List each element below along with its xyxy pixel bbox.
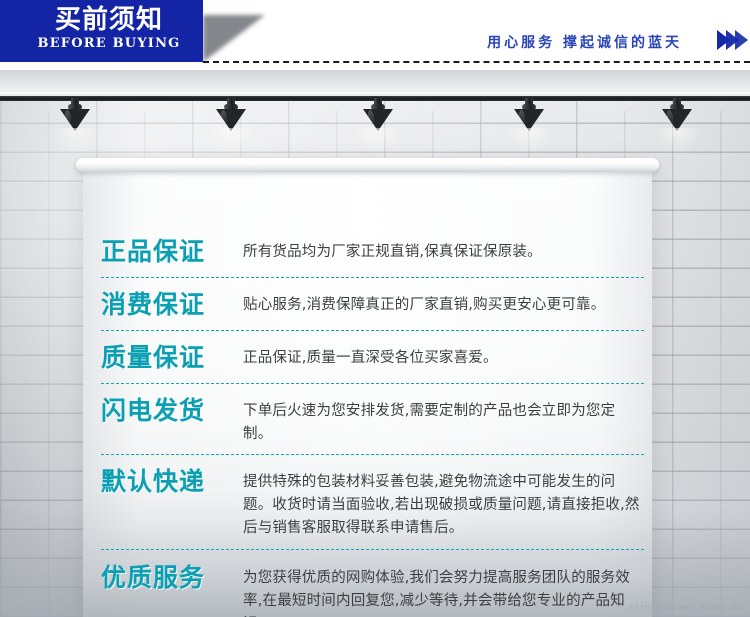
- row-divider: [101, 549, 644, 550]
- info-row-heading: 优质服务: [101, 563, 243, 593]
- info-row: 质量保证 正品保证,质量一直深受各位买家喜爱。: [83, 343, 652, 373]
- info-row-body: 提供特殊的包装材料妥善包装,避免物流途中可能发生的问题。收货时请当面验收,若出现…: [243, 467, 642, 540]
- spotlight-lamp-icon: [514, 98, 544, 132]
- ceiling-strip: [0, 70, 750, 96]
- info-row-body: 下单后火速为您安排发货,需要定制的产品也会立即为您定制。: [243, 396, 642, 446]
- info-row: 默认快递 提供特殊的包装材料妥善包装,避免物流途中可能发生的问题。收货时请当面验…: [83, 467, 652, 540]
- spotlight-lamp-icon: [60, 98, 90, 132]
- info-row-body: 贴心服务,消费保障真正的厂家直销,购买更安心更可靠。: [243, 290, 642, 317]
- spotlight-lamp-icon: [216, 98, 246, 132]
- info-row-body: 正品保证,质量一直深受各位买家喜爱。: [243, 343, 642, 370]
- row-divider: [101, 454, 644, 455]
- info-row: 闪电发货 下单后火速为您安排发货,需要定制的产品也会立即为您定制。: [83, 396, 652, 446]
- page-header: 买前须知 BEFORE BUYING 用心服务 撑起诚信的蓝天: [0, 0, 750, 70]
- info-row-body: 所有货品均为厂家正规直销,保真保证保原装。: [243, 237, 642, 264]
- header-tagline: 用心服务 撑起诚信的蓝天: [487, 32, 682, 52]
- floor-left: [0, 507, 90, 617]
- chevron-right-icon-group: [717, 30, 744, 50]
- info-row-body: 为您获得优质的网购体验,我们会努力提高服务团队的服务效率,在最短时间内回复您,减…: [243, 563, 642, 617]
- info-row-heading: 闪电发货: [101, 396, 243, 426]
- info-row-list: 正品保证 所有货品均为厂家正规直销,保真保证保原装。 消费保证 贴心服务,消费保…: [83, 165, 652, 617]
- studio-scene: 正品保证 所有货品均为厂家正规直销,保真保证保原装。 消费保证 贴心服务,消费保…: [0, 70, 750, 617]
- info-row-heading: 消费保证: [101, 290, 243, 320]
- white-backdrop: 正品保证 所有货品均为厂家正规直销,保真保证保原装。 消费保证 贴心服务,消费保…: [83, 165, 652, 617]
- banner-fold-shadow: [203, 15, 265, 62]
- header-banner: 买前须知 BEFORE BUYING: [0, 0, 203, 62]
- info-row: 正品保证 所有货品均为厂家正规直销,保真保证保原装。: [83, 237, 652, 267]
- floor-right: [645, 507, 750, 617]
- banner-title-en: BEFORE BUYING: [29, 36, 189, 52]
- row-divider: [101, 330, 644, 331]
- info-row: 消费保证 贴心服务,消费保障真正的厂家直销,购买更安心更可靠。: [83, 290, 652, 320]
- backdrop-roller-bar: [76, 158, 659, 172]
- chevron-right-icon: [735, 30, 748, 50]
- info-row-heading: 默认快递: [101, 467, 243, 497]
- info-row-heading: 正品保证: [101, 237, 243, 267]
- banner-title-cn: 买前须知: [29, 5, 189, 35]
- row-divider: [101, 383, 644, 384]
- spotlight-lamp-icon: [662, 98, 692, 132]
- page-root: 买前须知 BEFORE BUYING 用心服务 撑起诚信的蓝天: [0, 0, 750, 617]
- watermark-text: http://banner.known.cn: [629, 603, 742, 612]
- spotlight-lamp-icon: [363, 98, 393, 132]
- info-row-heading: 质量保证: [101, 343, 243, 373]
- row-divider: [101, 277, 644, 278]
- header-dashed-rule: [203, 61, 750, 63]
- info-row: 优质服务 为您获得优质的网购体验,我们会努力提高服务团队的服务效率,在最短时间内…: [83, 563, 652, 617]
